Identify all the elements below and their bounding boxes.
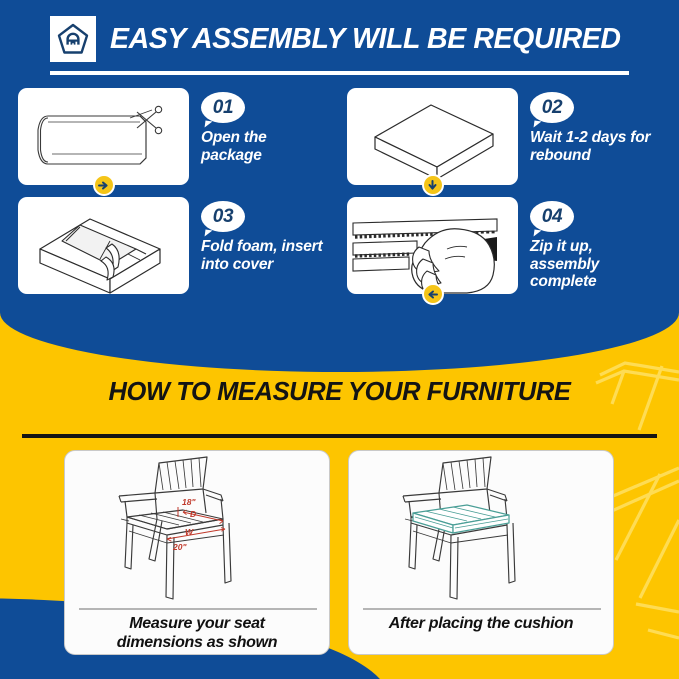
step-04: 04 Zip it up, assembly complete: [347, 197, 664, 294]
step-02-arrow-down-icon: [422, 174, 444, 196]
step-02: 02 Wait 1-2 days for rebound: [347, 88, 664, 185]
step-04-arrow-left-icon: [422, 283, 444, 305]
step-01-label: Open the package: [201, 129, 335, 164]
measure-card-cushion: After placing the cushion: [348, 450, 614, 655]
header-divider: [50, 71, 629, 75]
house-pentagon-logo-icon: [56, 22, 90, 56]
page-header: EASY ASSEMBLY WILL BE REQUIRED: [0, 10, 679, 68]
step-04-number-badge: 04: [530, 201, 574, 234]
step-04-number: 04: [530, 201, 574, 232]
step-02-label-line2: rebound: [530, 147, 591, 164]
step-02-label-line1: Wait 1-2 days for: [530, 129, 650, 146]
measure-card-2-caption-line1: After placing the cushion: [389, 615, 574, 632]
step-01-arrow-right-icon: [93, 174, 115, 196]
step-01-illustration-card: [18, 88, 189, 185]
step-01-text: 01 Open the package: [189, 88, 335, 164]
step-04-illustration-card: [347, 197, 518, 294]
step-01-number: 01: [201, 92, 245, 123]
brand-logo: [50, 16, 96, 62]
step-04-label: Zip it up, assembly complete: [530, 238, 664, 291]
depth-value-label: 18": [182, 497, 196, 507]
chair-with-teal-cushion-icon: [381, 455, 581, 607]
step-02-number: 02: [530, 92, 574, 123]
step-03-label-line2: into cover: [201, 256, 273, 273]
foam-inserted-into-cover-icon: [18, 197, 189, 294]
width-letter-label: W: [185, 527, 194, 537]
measure-section-divider: [22, 434, 657, 438]
chair-illustration-wrap: 18" D W 20": [65, 451, 329, 609]
step-03-number-badge: 03: [201, 201, 245, 234]
step-03-illustration-card: [18, 197, 189, 294]
step-03-label: Fold foam, insert into cover: [201, 238, 335, 273]
step-01: 01 Open the package: [18, 88, 335, 185]
infographic-root: EASY ASSEMBLY WILL BE REQUIRED: [0, 0, 679, 679]
rolled-package-with-scissors-icon: [18, 88, 189, 185]
width-value-label: 20": [172, 542, 187, 552]
step-02-number-badge: 02: [530, 92, 574, 125]
step-03-bubble-tail: [205, 230, 213, 238]
step-04-label-line2: complete: [530, 273, 596, 290]
measure-card-1-divider: [79, 608, 317, 610]
measure-card-1-caption: Measure your seat dimensions as shown: [65, 615, 329, 652]
depth-letter-label: D: [190, 509, 196, 519]
chair-cushion-illustration-wrap: [349, 451, 613, 609]
measure-card-2-caption: After placing the cushion: [349, 615, 613, 634]
flat-foam-slab-icon: [347, 88, 518, 185]
step-02-illustration-card: [347, 88, 518, 185]
step-04-bubble-tail: [534, 230, 542, 238]
step-01-bubble-tail: [205, 121, 213, 129]
measure-section-title: HOW TO MEASURE YOUR FURNITURE: [0, 378, 679, 407]
measure-cards: 18" D W 20" Measure your seat dimensions…: [64, 450, 615, 655]
step-02-label: Wait 1-2 days for rebound: [530, 129, 664, 164]
step-04-label-line1: Zip it up, assembly: [530, 238, 599, 273]
step-01-label-line2: package: [201, 147, 262, 164]
step-01-label-line1: Open the: [201, 129, 267, 146]
step-03-label-line1: Fold foam, insert: [201, 238, 322, 255]
step-03-text: 03 Fold foam, insert into cover: [189, 197, 335, 273]
step-04-text: 04 Zip it up, assembly complete: [518, 197, 664, 291]
step-01-number-badge: 01: [201, 92, 245, 125]
step-03: 03 Fold foam, insert into cover: [18, 197, 335, 294]
step-02-bubble-tail: [534, 121, 542, 129]
assembly-steps-grid: 01 Open the package: [18, 88, 664, 294]
hand-zipping-zipper-icon: [347, 197, 518, 294]
measure-card-2-divider: [363, 608, 601, 610]
page-title: EASY ASSEMBLY WILL BE REQUIRED: [110, 23, 621, 56]
measure-card-1-caption-line1: Measure your seat: [129, 615, 264, 632]
chair-with-dimension-annotations-icon: 18" D W 20": [97, 455, 297, 607]
step-03-number: 03: [201, 201, 245, 232]
step-02-text: 02 Wait 1-2 days for rebound: [518, 88, 664, 164]
measure-card-1-caption-line2: dimensions as shown: [117, 634, 278, 651]
measure-card-dimensions: 18" D W 20" Measure your seat dimensions…: [64, 450, 330, 655]
